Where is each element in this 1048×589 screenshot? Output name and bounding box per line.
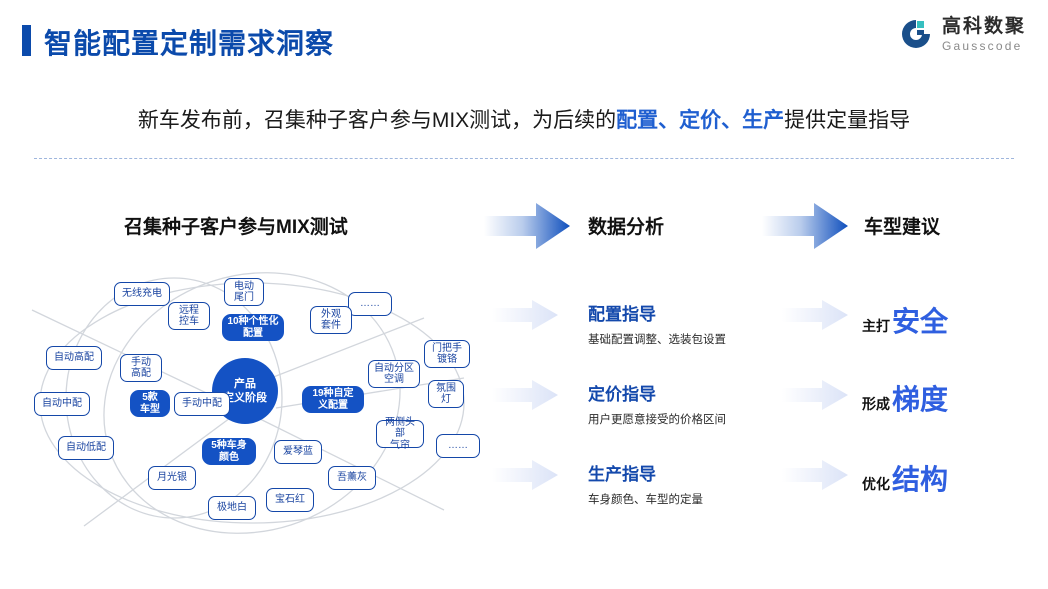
badge-colors-line2: 颜色 xyxy=(211,452,247,464)
flow-arrow-2-icon xyxy=(762,202,848,250)
subtitle-highlight: 配置、定价、生产 xyxy=(616,109,784,132)
column-heading-collect: 召集种子客户参与MIX测试 xyxy=(124,212,348,239)
badge-custom-line2: 义配置 xyxy=(312,400,353,412)
node-ambient-light-line2: 灯 xyxy=(436,394,456,406)
row-arrow-right-1-icon xyxy=(782,300,848,330)
node-ellipsis-top[interactable]: …… xyxy=(348,292,392,316)
node-remote-control-line1: 远程 xyxy=(179,305,199,317)
node-auto-mid-config[interactable]: 自动中配 xyxy=(34,392,90,416)
node-remote-control[interactable]: 远程 控车 xyxy=(168,302,210,330)
gausscode-logo-icon xyxy=(898,16,934,52)
suggestion-row-structure: 优化 结构 xyxy=(862,458,948,498)
badge-models-line1: 5款 xyxy=(140,392,160,404)
node-power-tailgate-line1: 电动 xyxy=(234,281,254,293)
row-arrow-left-3-icon xyxy=(492,460,558,490)
suggestion-prefix-gradient: 形成 xyxy=(862,394,890,414)
node-door-handle-chrome[interactable]: 门把手 镀铬 xyxy=(424,340,470,368)
subtitle-part-2: 提供定量指导 xyxy=(784,109,910,132)
node-side-curtain-airbag[interactable]: 两侧头部 气帘 xyxy=(376,420,424,448)
column-heading-analysis: 数据分析 xyxy=(588,212,664,239)
node-manual-high-config[interactable]: 手动 高配 xyxy=(120,354,162,382)
badge-model-count[interactable]: 5款 车型 xyxy=(130,390,170,417)
analysis-desc-pricing: 用户更愿意接受的价格区间 xyxy=(588,411,838,427)
node-moonlight-silver[interactable]: 月光银 xyxy=(148,466,196,490)
node-aegean-blue[interactable]: 爱琴蓝 xyxy=(274,440,322,464)
badge-custom-config[interactable]: 19种自定 义配置 xyxy=(302,386,364,413)
node-door-handle-line1: 门把手 xyxy=(432,343,462,355)
page-title: 智能配置定制需求洞察 xyxy=(44,22,334,62)
node-ellipsis-right[interactable]: …… xyxy=(436,434,480,458)
node-appearance-kit-line1: 外观 xyxy=(321,309,341,321)
node-auto-zone-ac-line2: 空调 xyxy=(374,374,414,386)
logo-wordmark: 高科数聚 Gausscode xyxy=(942,17,1026,52)
node-side-airbag-line1: 两侧头部 xyxy=(381,417,419,440)
row-arrow-right-3-icon xyxy=(782,460,848,490)
node-appearance-kit-line2: 套件 xyxy=(321,320,341,332)
suggestion-prefix-structure: 优化 xyxy=(862,474,890,494)
suggestion-row-safety: 主打 安全 xyxy=(862,300,948,340)
badge-personalized-line2: 配置 xyxy=(227,328,278,340)
node-auto-zone-ac[interactable]: 自动分区 空调 xyxy=(368,360,420,388)
node-side-airbag-line2: 气帘 xyxy=(381,440,419,452)
node-door-handle-line2: 镀铬 xyxy=(432,354,462,366)
node-wireless-charging[interactable]: 无线充电 xyxy=(114,282,170,306)
suggestion-prefix-safety: 主打 xyxy=(862,316,890,336)
mindmap-diagram: 产品 定义阶段 10种个性化 配置 19种自定 义配置 5款 车型 5种车身 颜… xyxy=(24,258,494,548)
node-ruby-red[interactable]: 宝石红 xyxy=(266,488,314,512)
badge-colors-line1: 5种车身 xyxy=(211,440,247,452)
node-appearance-kit[interactable]: 外观 套件 xyxy=(310,306,352,334)
analysis-desc-production: 车身颜色、车型的定量 xyxy=(588,491,838,507)
row-arrow-left-2-icon xyxy=(492,380,558,410)
node-lavender-grey[interactable]: 吾薰灰 xyxy=(328,466,376,490)
badge-personalized-line1: 10种个性化 xyxy=(227,316,278,328)
node-polar-white[interactable]: 极地白 xyxy=(208,496,256,520)
suggestion-row-gradient: 形成 梯度 xyxy=(862,378,948,418)
badge-body-colors[interactable]: 5种车身 颜色 xyxy=(202,438,256,465)
brand-logo: 高科数聚 Gausscode xyxy=(898,16,1026,52)
node-auto-low-config[interactable]: 自动低配 xyxy=(58,436,114,460)
node-manual-high-line1: 手动 xyxy=(131,357,151,369)
badge-personalized-config[interactable]: 10种个性化 配置 xyxy=(222,314,284,341)
node-remote-control-line2: 控车 xyxy=(179,316,199,328)
suggestion-keyword-gradient: 梯度 xyxy=(892,378,948,418)
slide-root: 智能配置定制需求洞察 高科数聚 Gausscode 新车发布前，召集种子客户参与… xyxy=(0,0,1048,589)
badge-models-line2: 车型 xyxy=(140,404,160,416)
analysis-desc-config: 基础配置调整、选装包设置 xyxy=(588,331,838,347)
subtitle-part-1: 新车发布前，召集种子客户参与MIX测试，为后续的 xyxy=(138,109,616,132)
node-ambient-light-line1: 氛围 xyxy=(436,383,456,395)
core-line-1: 产品 xyxy=(223,377,267,391)
logo-text-en: Gausscode xyxy=(942,40,1026,52)
node-manual-high-line2: 高配 xyxy=(131,368,151,380)
suggestion-keyword-structure: 结构 xyxy=(892,458,948,498)
column-heading-suggestion: 车型建议 xyxy=(864,212,940,239)
row-arrow-left-1-icon xyxy=(492,300,558,330)
node-manual-mid-config[interactable]: 手动中配 xyxy=(174,392,230,416)
node-auto-high-config[interactable]: 自动高配 xyxy=(46,346,102,370)
badge-custom-line1: 19种自定 xyxy=(312,388,353,400)
node-power-tailgate-line2: 尾门 xyxy=(234,292,254,304)
header-divider xyxy=(34,158,1014,159)
slide-subtitle: 新车发布前，召集种子客户参与MIX测试，为后续的配置、定价、生产提供定量指导 xyxy=(0,104,1048,134)
node-ambient-light[interactable]: 氛围 灯 xyxy=(428,380,464,408)
logo-text-cn: 高科数聚 xyxy=(942,17,1026,36)
suggestion-keyword-safety: 安全 xyxy=(892,300,948,340)
node-auto-zone-ac-line1: 自动分区 xyxy=(374,363,414,375)
slide-header: 智能配置定制需求洞察 高科数聚 Gausscode xyxy=(0,0,1048,78)
flow-arrow-1-icon xyxy=(484,202,570,250)
node-power-tailgate[interactable]: 电动 尾门 xyxy=(224,278,264,306)
row-arrow-right-2-icon xyxy=(782,380,848,410)
title-accent-bar xyxy=(22,25,31,56)
